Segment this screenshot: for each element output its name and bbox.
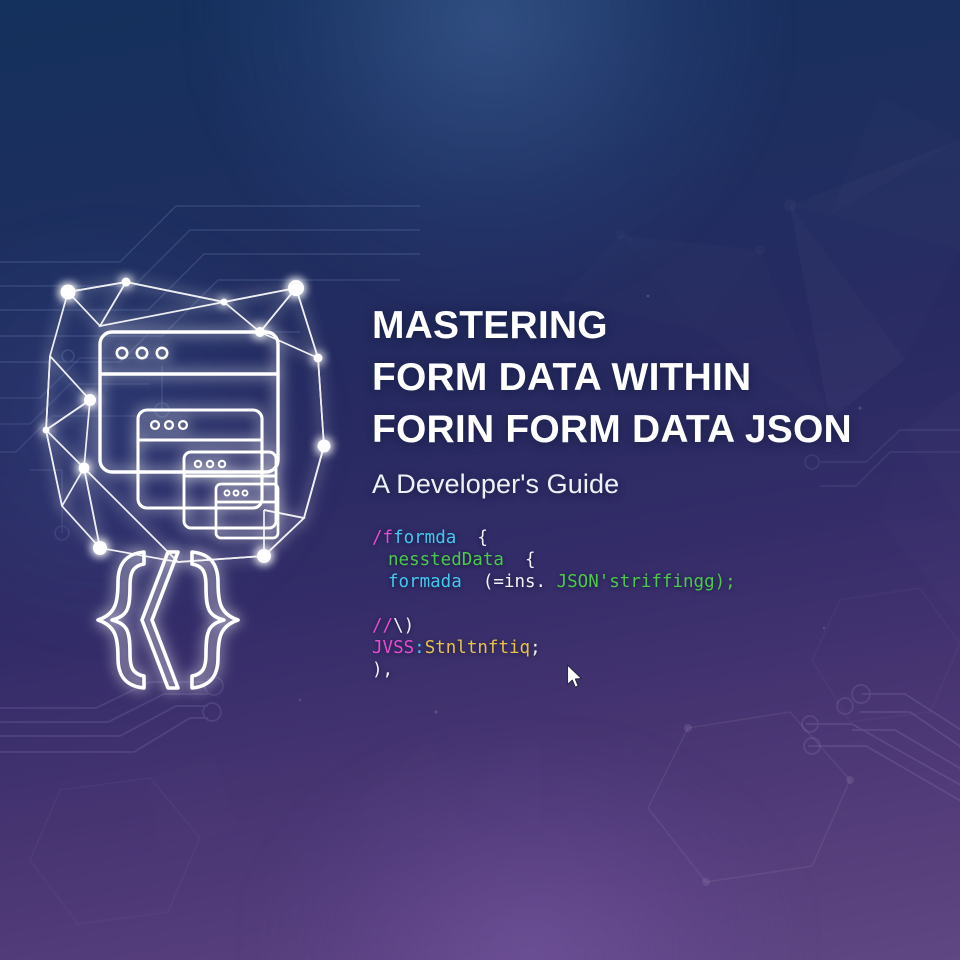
page-title: MASTERING FORM DATA WITHIN FORIN FORM DA… [372, 300, 932, 456]
right-brace [192, 552, 238, 688]
code-token: \) [393, 616, 414, 636]
logo [28, 270, 368, 690]
code-blank-line [372, 593, 932, 615]
banner-canvas: MASTERING FORM DATA WITHIN FORIN FORM DA… [0, 0, 960, 960]
code-token: ); [715, 572, 736, 592]
browser-windows-stack [100, 332, 278, 538]
headline-line-3: FORIN FORM DATA JSON [372, 404, 932, 456]
code-token: nesstedData [388, 550, 504, 570]
code-token: /f [372, 528, 393, 548]
code-token: formda [393, 528, 456, 548]
middle-slash [142, 552, 178, 688]
code-token: : [414, 638, 425, 658]
curly-braces [98, 552, 238, 688]
code-token: // [372, 616, 393, 636]
code-token: Stnltnftiq [425, 638, 530, 658]
subtitle: A Developer's Guide [372, 469, 932, 500]
code-line: //\) [372, 615, 932, 637]
polygon-facets-lower [148, 735, 540, 852]
hero-content: MASTERING FORM DATA WITHIN FORIN FORM DA… [372, 300, 932, 681]
code-snippet: /fformda {nesstedData {formada (=ins. JS… [372, 527, 932, 681]
headline-line-2: FORM DATA WITHIN [372, 352, 932, 404]
mouse-pointer-icon [566, 664, 583, 689]
code-token: formada [388, 572, 462, 592]
code-token: JSON'striffingg [557, 572, 715, 592]
network-nodes [43, 278, 331, 564]
code-line: /fformda { [372, 527, 932, 549]
code-line: ), [372, 659, 932, 681]
headline-line-1: MASTERING [372, 300, 932, 352]
code-line: formada (=ins. JSON'striffingg); [372, 571, 932, 593]
left-brace [98, 552, 144, 688]
code-token: JVSS [372, 638, 414, 658]
code-line: nesstedData { [372, 549, 932, 571]
code-token: { [456, 528, 488, 548]
code-token: { [504, 550, 536, 570]
code-line: JVSS:Stnltnftiq; [372, 637, 932, 659]
code-token: ; [530, 638, 541, 658]
code-token: (=ins. [462, 572, 557, 592]
code-token: ), [372, 660, 393, 680]
circuit-traces-bottom-right [802, 685, 960, 812]
